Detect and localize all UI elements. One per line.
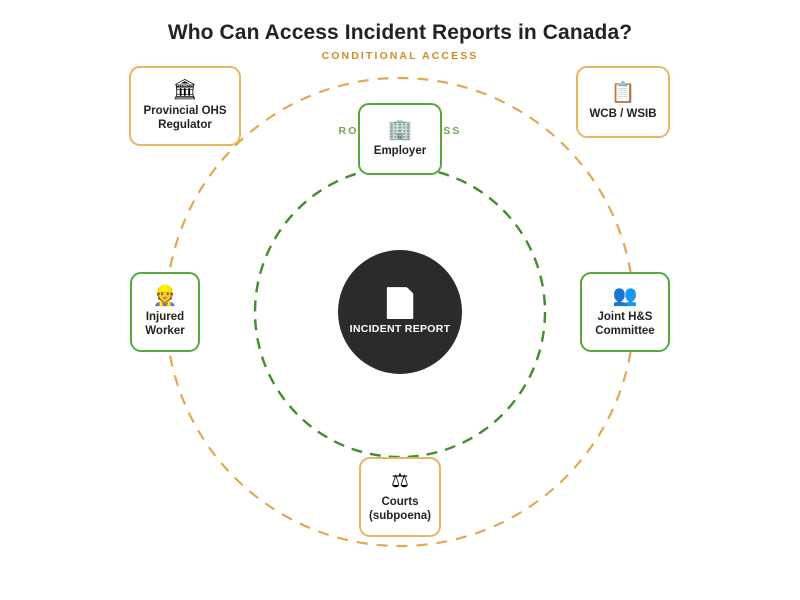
document-icon: 📄: [382, 288, 418, 320]
node-joint-hs-committee[interactable]: 👥Joint H&S Committee: [580, 272, 670, 352]
node-employer[interactable]: 🏢Employer: [358, 103, 442, 175]
classical-building-icon: 🏛: [172, 79, 197, 102]
node-wcb-wsib[interactable]: 📋WCB / WSIB: [576, 66, 670, 138]
node-injured-worker-label: Injured Worker: [145, 311, 184, 338]
node-courts-subpoena-label: Courts (subpoena): [369, 496, 431, 523]
balance-scale-icon: ⚖: [391, 470, 409, 493]
incident-report-hub-label: INCIDENT REPORT: [350, 323, 451, 336]
office-building-icon: 🏢: [388, 119, 413, 142]
diagram-canvas: Who Can Access Incident Reports in Canad…: [0, 0, 800, 600]
node-employer-label: Employer: [374, 145, 426, 159]
incident-report-hub: 📄 INCIDENT REPORT: [338, 250, 462, 374]
construction-worker-icon: 👷: [153, 285, 178, 308]
node-provincial-ohs-regulator-label: Provincial OHS Regulator: [143, 105, 226, 132]
node-provincial-ohs-regulator[interactable]: 🏛Provincial OHS Regulator: [129, 66, 241, 146]
node-wcb-wsib-label: WCB / WSIB: [589, 108, 656, 122]
node-courts-subpoena[interactable]: ⚖Courts (subpoena): [359, 457, 441, 537]
busts-in-silhouette-icon: 👥: [613, 285, 638, 308]
node-injured-worker[interactable]: 👷Injured Worker: [130, 272, 200, 352]
clipboard-icon: 📋: [611, 82, 636, 105]
node-joint-hs-committee-label: Joint H&S Committee: [595, 311, 654, 338]
